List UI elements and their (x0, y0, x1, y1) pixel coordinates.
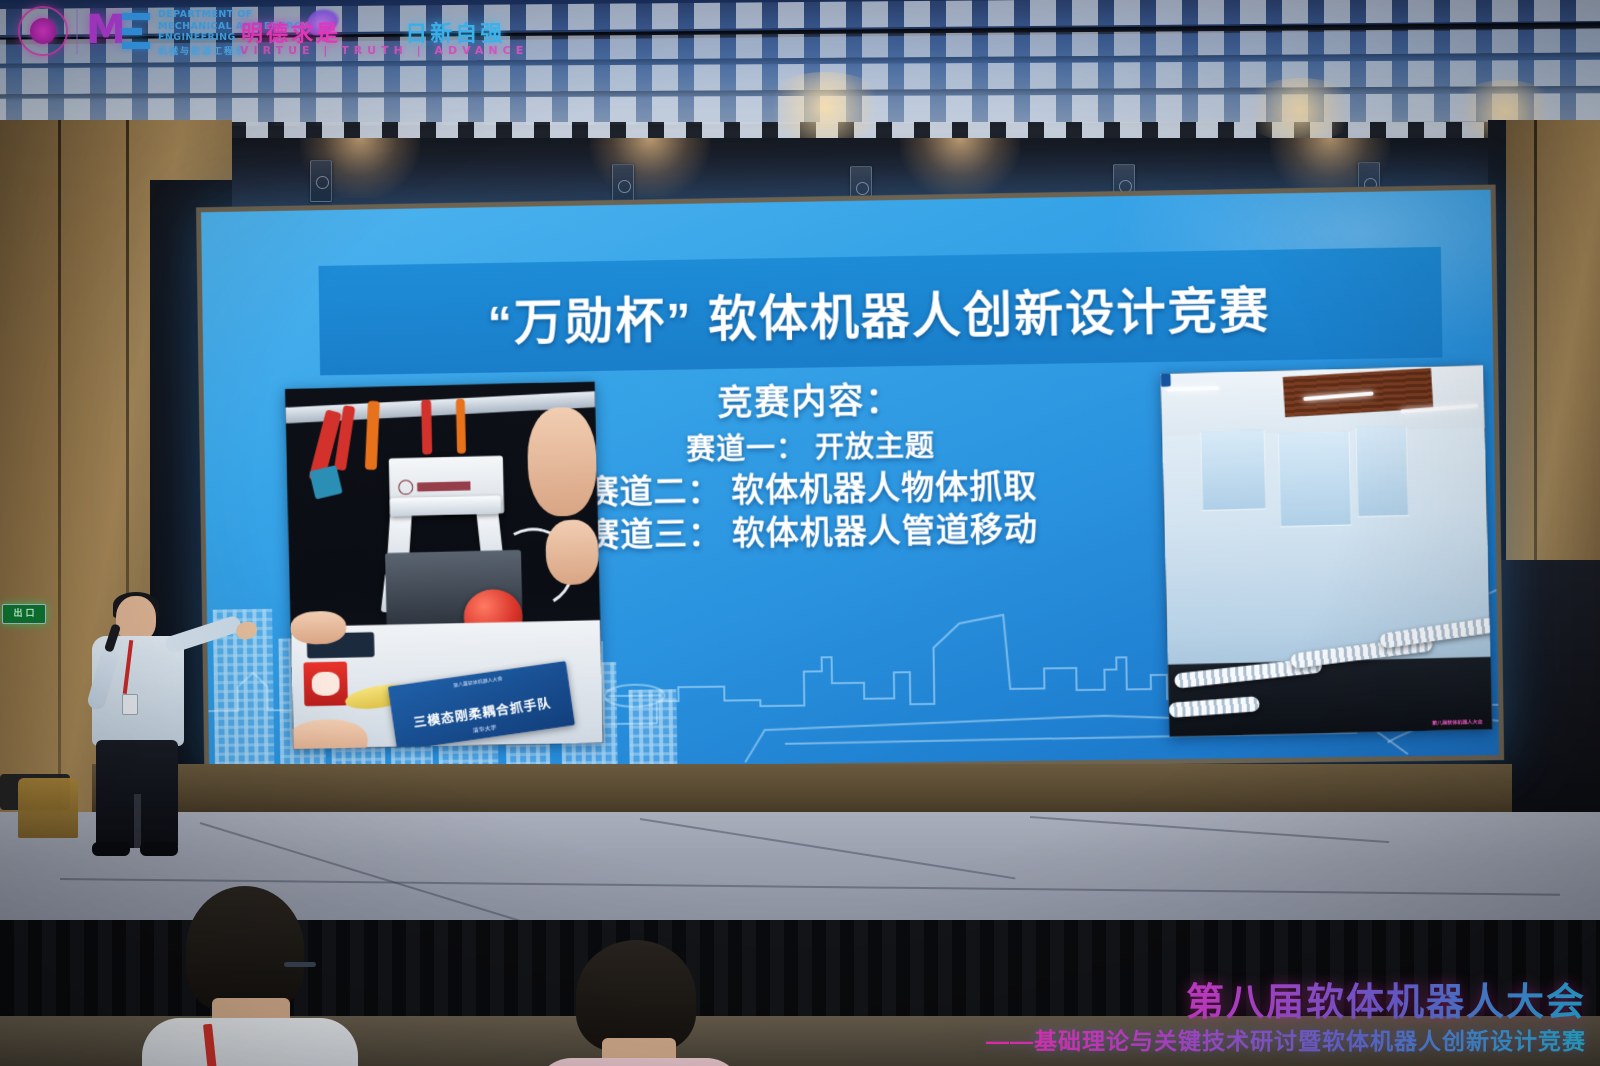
presenter-badge (122, 694, 138, 715)
audience-member-right (548, 940, 778, 1066)
track-item-2: 赛道二： 软体机器人物体抓取 (532, 464, 1092, 515)
pipe-crawling-robot-demo-photo: 第八届软体机器人大会 (1160, 365, 1492, 736)
presenter-shoe (92, 842, 130, 856)
presenter-shoe (140, 842, 178, 856)
exit-sign: 出 口 (2, 604, 46, 624)
slide-body: 竞赛内容： 赛道一： 开放主题 赛道二： 软体机器人物体抓取 赛道三： 软体机器… (530, 369, 1092, 558)
watermark-subtitle: ——基础理论与关键技术研讨暨软体机器人创新设计竞赛 (986, 1026, 1586, 1056)
header-overlay: M DEPARTMENT OF MECHANICAL AND ENERGY EN… (0, 0, 1600, 64)
department-name-cn: 机械与能源工程系 (158, 44, 246, 57)
content-heading: 竞赛内容： (530, 369, 1090, 429)
slogan-part-a: 明德求是 (241, 21, 341, 46)
watermark-title: 第八届软体机器人大会 (986, 980, 1586, 1026)
presenter (48, 596, 228, 858)
ceiling-light-glow (1240, 78, 1360, 142)
university-seal-icon (18, 6, 68, 56)
university-slogan-en: VIRTUE | TRUTH | ADVANCE (240, 44, 528, 57)
exit-sign-glyph-right: 口 (26, 610, 35, 619)
conference-photo-scene: 出 口 “万勋杯” 软体机器人创新设计竞赛 竞赛内容： 赛道一： 开放主题 赛道… (0, 0, 1600, 1066)
soda-can-object (304, 662, 348, 706)
ceiling-light-glow (760, 72, 890, 142)
slogan-part-b: 日新自强 (405, 21, 505, 46)
presentation-slide: “万勋杯” 软体机器人创新设计竞赛 竞赛内容： 赛道一： 开放主题 赛道二： 软… (201, 190, 1499, 771)
mee-logo-letter: M (86, 8, 126, 52)
ceiling-speaker (310, 160, 332, 202)
exit-sign-glyph-left: 出 (13, 610, 22, 619)
e-bars-icon (122, 13, 150, 49)
soft-gripper-demo-photo: 第八届软体机器人大会 三模态刚柔耦合抓手队 清华大学 (285, 382, 603, 750)
photo-watermark: 第八届软体机器人大会 (1432, 719, 1483, 727)
slide-title: “万勋杯” 软体机器人创新设计竞赛 (319, 253, 1443, 371)
audience-member-left (160, 886, 390, 1066)
skyline-building (629, 689, 678, 771)
conference-watermark: 第八届软体机器人大会 ——基础理论与关键技术研讨暨软体机器人创新设计竞赛 (986, 980, 1586, 1056)
led-screen: “万勋杯” 软体机器人创新设计竞赛 竞赛内容： 赛道一： 开放主题 赛道二： 软… (196, 185, 1504, 776)
